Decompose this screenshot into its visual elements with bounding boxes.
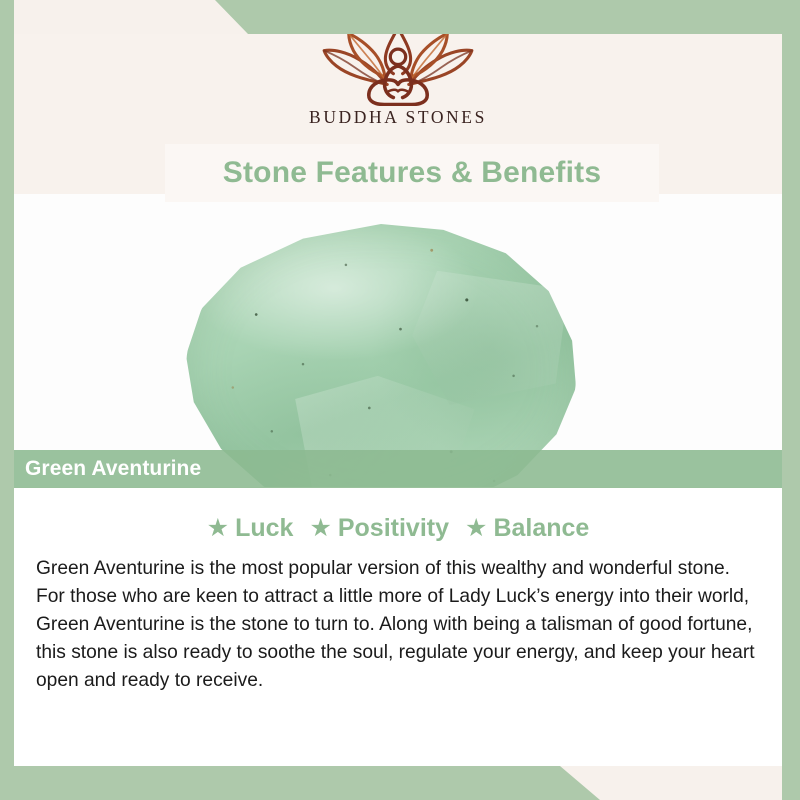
page-title: Stone Features & Benefits: [223, 156, 601, 190]
benefit-item-luck: ★ Luck: [207, 514, 294, 543]
star-icon: ★: [207, 516, 229, 541]
brand-name: BUDDHA STONES: [309, 107, 487, 128]
stone-photo: [14, 194, 782, 487]
frame-bottom-band: [0, 766, 800, 800]
benefits-row: ★ Luck ★ Positivity ★ Balance: [14, 488, 782, 543]
star-icon: ★: [465, 516, 487, 541]
benefit-label: Positivity: [338, 514, 449, 543]
benefit-item-positivity: ★ Positivity: [309, 514, 449, 543]
description-panel: ★ Luck ★ Positivity ★ Balance Green Aven…: [14, 488, 782, 766]
content-canvas: BUDDHA STONES Stone Features & Benefits …: [14, 34, 782, 766]
benefit-label: Luck: [235, 514, 293, 543]
benefit-label: Balance: [493, 514, 589, 543]
stone-name-label: Green Aventurine: [14, 450, 782, 488]
frame-left-band: [0, 0, 14, 800]
benefit-item-balance: ★ Balance: [465, 514, 589, 543]
frame-right-band: [782, 0, 800, 800]
brand-logo: BUDDHA STONES: [14, 34, 782, 139]
title-banner: Stone Features & Benefits: [165, 144, 659, 202]
star-icon: ★: [309, 516, 331, 541]
infographic-page: BUDDHA STONES Stone Features & Benefits …: [0, 0, 800, 800]
stone-name: Green Aventurine: [25, 457, 201, 481]
frame-top-band: [0, 0, 800, 34]
stone-description: Green Aventurine is the most popular ver…: [36, 555, 760, 695]
lotus-meditation-icon: [313, 34, 483, 106]
